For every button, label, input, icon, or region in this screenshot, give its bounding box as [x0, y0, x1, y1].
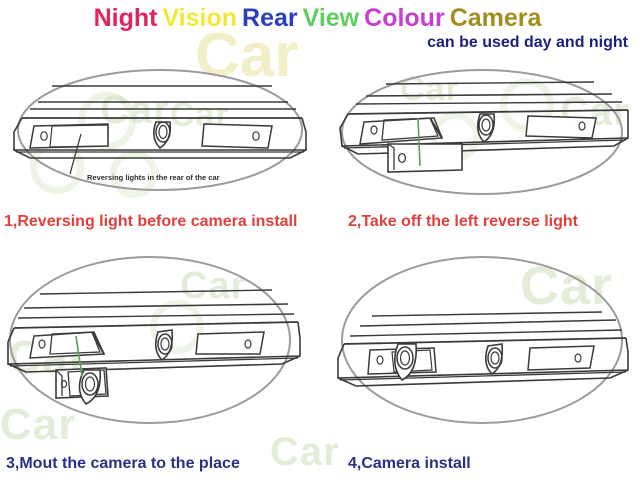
step-panel-3	[0, 252, 320, 442]
step-panel-2	[330, 62, 640, 212]
step-panel-4	[330, 252, 640, 442]
poster-root: Car Car Car Car Car Car Car Car Car Car …	[0, 0, 640, 480]
page-title: NightVisionRearViewColourCamera	[0, 4, 640, 33]
title-word-camera: Camera	[450, 4, 542, 32]
title-word-vision: Vision	[162, 4, 237, 32]
title-word-night: Night	[94, 4, 158, 32]
step-caption-4: 4,Camera install	[348, 455, 471, 473]
page-subtitle: can be used day and night	[427, 34, 628, 52]
step-caption-2: 2,Take off the left reverse light	[348, 213, 578, 231]
step-caption-3: 3,Mout the camera to the place	[6, 455, 240, 473]
figure-step-3	[0, 252, 320, 442]
figure-step-2	[330, 62, 640, 212]
figure-step-1: Reversing lights in the rear of the car	[0, 62, 320, 212]
figure-step-4	[330, 252, 640, 442]
title-word-rear: Rear	[242, 4, 298, 32]
step-caption-1: 1,Reversing light before camera install	[4, 213, 297, 231]
figure-1-inner-label: Reversing lights in the rear of the car	[87, 173, 220, 182]
title-word-view: View	[303, 4, 360, 32]
step-panel-1: Reversing lights in the rear of the car	[0, 62, 320, 212]
title-word-colour: Colour	[364, 4, 445, 32]
